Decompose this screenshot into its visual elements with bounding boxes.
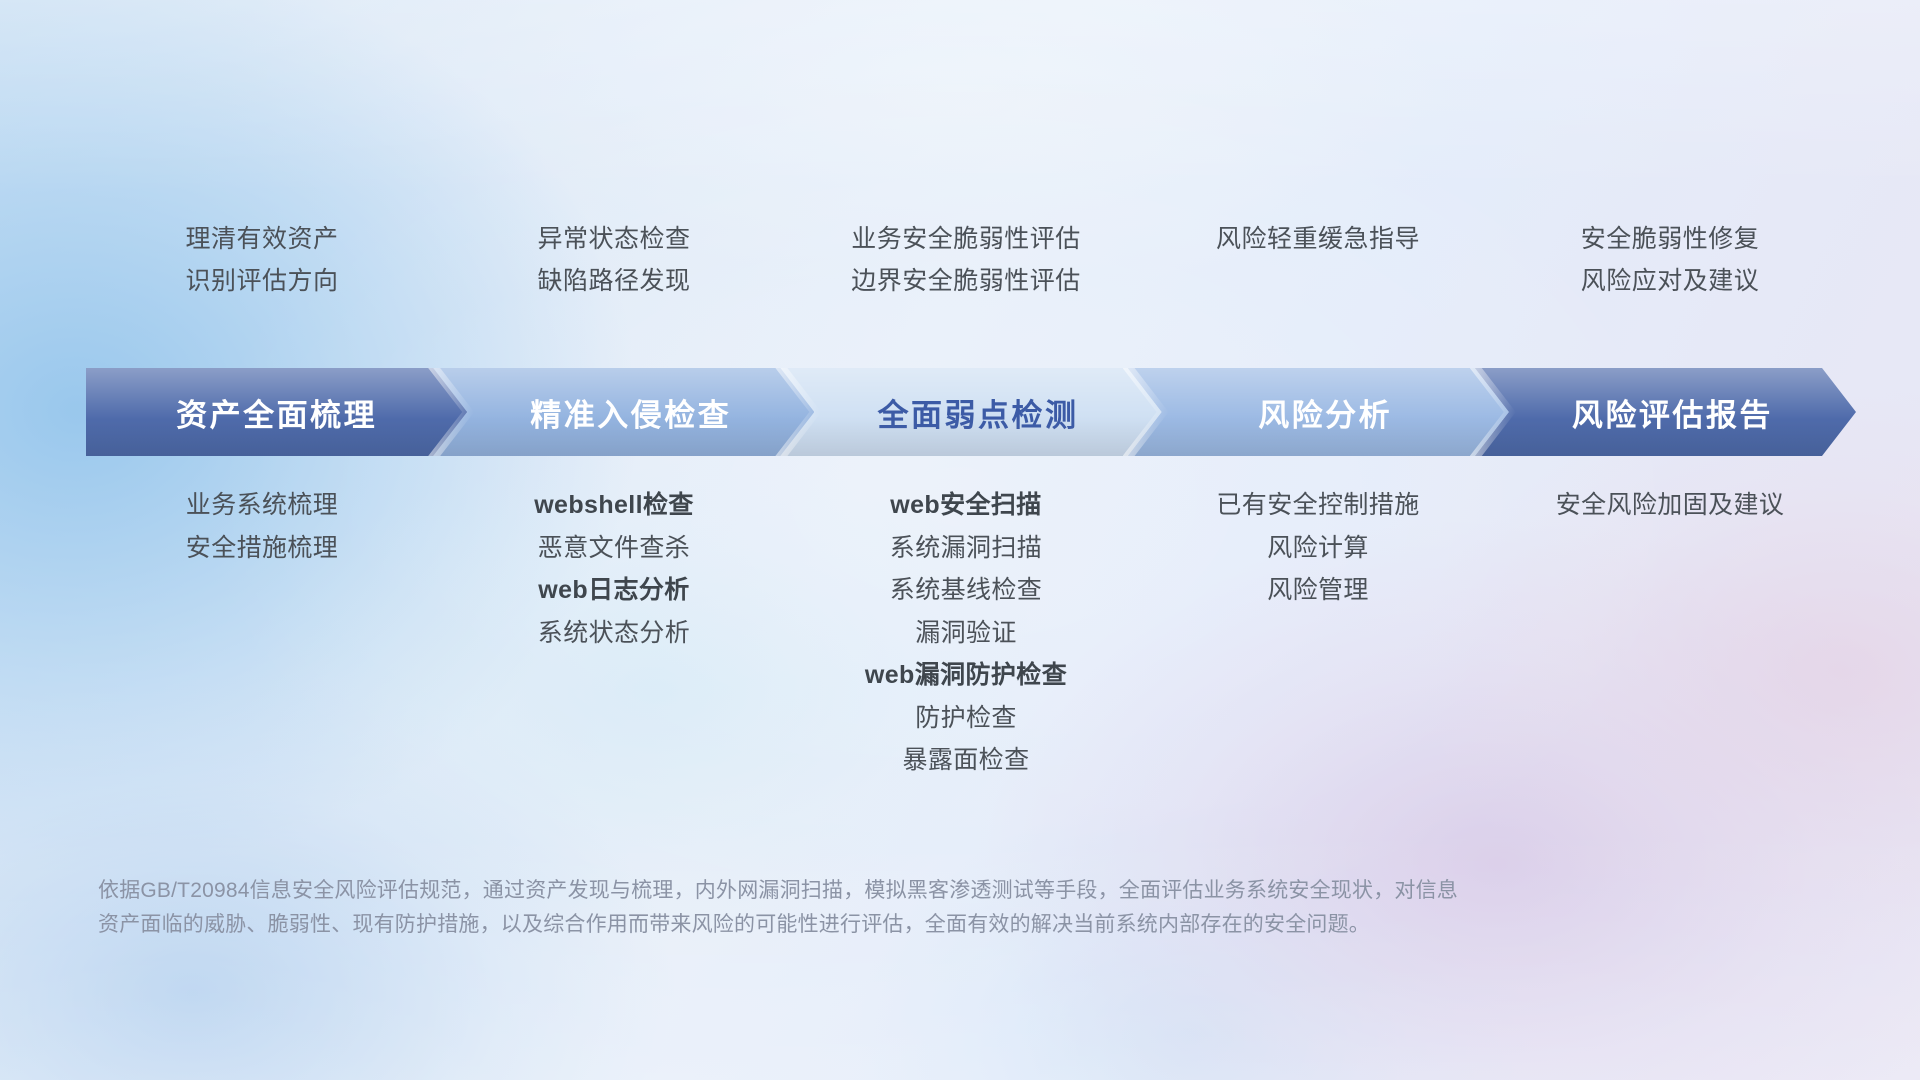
- chevron-stage-risk-analysis[interactable]: 风险分析: [1128, 368, 1509, 456]
- top-item: 安全脆弱性修复: [1581, 226, 1760, 253]
- bottom-item: 业务系统梳理: [186, 492, 338, 520]
- chevron-label: 资产全面梳理: [176, 390, 377, 435]
- bottom-item: 系统基线检查: [890, 577, 1042, 605]
- top-column-asset-inventory: 理清有效资产识别评估方向: [86, 226, 438, 336]
- top-column-risk-analysis: 风险轻重缓急指导: [1142, 226, 1494, 336]
- top-item: 风险轻重缓急指导: [1216, 226, 1420, 253]
- bottom-item: 安全措施梳理: [186, 535, 338, 563]
- footer-description: 依据GB/T20984信息安全风险评估规范，通过资产发现与梳理，内外网漏洞扫描，…: [98, 874, 1698, 942]
- chevron-stage-weakness-detection[interactable]: 全面弱点检测: [780, 368, 1161, 456]
- chevron-label: 全面弱点检测: [877, 390, 1078, 435]
- bottom-item: web安全扫描: [890, 492, 1041, 520]
- bottom-column-asset-inventory: 业务系统梳理安全措施梳理: [86, 492, 438, 562]
- bottom-item: web漏洞防护检查: [865, 662, 1067, 690]
- bottom-item: 系统漏洞扫描: [890, 535, 1042, 563]
- top-item: 异常状态检查: [537, 226, 690, 253]
- top-item: 风险应对及建议: [1581, 268, 1760, 295]
- bottom-item: 防护检查: [915, 705, 1017, 733]
- slide-canvas: 理清有效资产识别评估方向异常状态检查缺陷路径发现业务安全脆弱性评估边界安全脆弱性…: [0, 0, 1920, 1080]
- process-chevron-banner: 资产全面梳理精准入侵检查全面弱点检测风险分析风险评估报告: [86, 368, 1856, 456]
- top-item: 缺陷路径发现: [537, 268, 690, 295]
- top-item: 识别评估方向: [185, 268, 338, 295]
- footer-line-1: 依据GB/T20984信息安全风险评估规范，通过资产发现与梳理，内外网漏洞扫描，…: [98, 874, 1698, 908]
- bottom-column-intrusion-check: webshell检查恶意文件查杀web日志分析系统状态分析: [438, 492, 790, 647]
- bottom-item: 暴露面检查: [902, 747, 1029, 775]
- top-item: 边界安全脆弱性评估: [851, 268, 1081, 295]
- top-column-intrusion-check: 异常状态检查缺陷路径发现: [438, 226, 790, 336]
- top-column-assessment-report: 安全脆弱性修复风险应对及建议: [1494, 226, 1846, 336]
- bottom-item: webshell检查: [534, 492, 694, 520]
- bottom-item: 漏洞验证: [915, 620, 1017, 648]
- top-outcome-row: 理清有效资产识别评估方向异常状态检查缺陷路径发现业务安全脆弱性评估边界安全脆弱性…: [86, 226, 1846, 336]
- chevron-label: 风险分析: [1258, 390, 1392, 435]
- bottom-item: 安全风险加固及建议: [1556, 492, 1785, 520]
- bottom-item: web日志分析: [538, 577, 689, 605]
- bottom-column-risk-analysis: 已有安全控制措施风险计算风险管理: [1142, 492, 1494, 605]
- bottom-item: 风险计算: [1267, 535, 1369, 563]
- chevron-stage-assessment-report[interactable]: 风险评估报告: [1475, 368, 1856, 456]
- chevron-stage-asset-inventory[interactable]: 资产全面梳理: [86, 368, 467, 456]
- top-item: 理清有效资产: [185, 226, 338, 253]
- chevron-label: 风险评估报告: [1572, 390, 1773, 435]
- bottom-column-weakness-detection: web安全扫描系统漏洞扫描系统基线检查漏洞验证web漏洞防护检查防护检查暴露面检…: [790, 492, 1142, 775]
- chevron-label: 精准入侵检查: [530, 390, 731, 435]
- bottom-item: 风险管理: [1267, 577, 1369, 605]
- bottom-item: 恶意文件查杀: [538, 535, 690, 563]
- top-column-weakness-detection: 业务安全脆弱性评估边界安全脆弱性评估: [790, 226, 1142, 336]
- chevron-stage-intrusion-check[interactable]: 精准入侵检查: [433, 368, 814, 456]
- footer-line-2: 资产面临的威胁、脆弱性、现有防护措施，以及综合作用而带来风险的可能性进行评估，全…: [98, 908, 1698, 942]
- bottom-item: 已有安全控制措施: [1216, 492, 1419, 520]
- bottom-column-assessment-report: 安全风险加固及建议: [1494, 492, 1846, 520]
- bottom-activity-row: 业务系统梳理安全措施梳理webshell检查恶意文件查杀web日志分析系统状态分…: [86, 492, 1846, 775]
- top-item: 业务安全脆弱性评估: [851, 226, 1081, 253]
- bottom-item: 系统状态分析: [538, 620, 690, 648]
